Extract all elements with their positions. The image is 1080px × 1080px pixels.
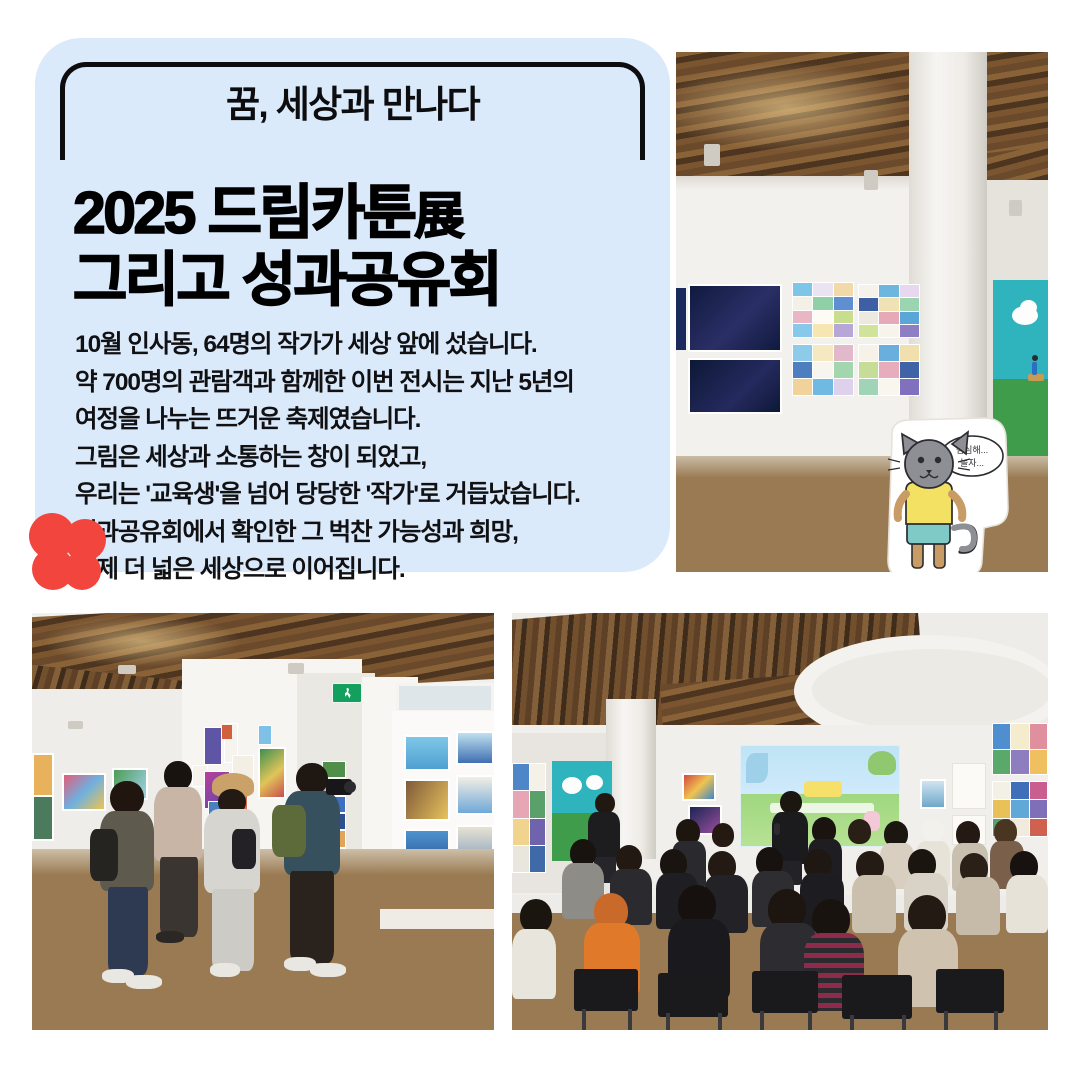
body-line: 여정을 나누는 뜨거운 축제였습니다. bbox=[75, 401, 655, 439]
artwork-panel bbox=[456, 731, 494, 765]
eyebrow-text: 꿈, 세상과 만나다 bbox=[35, 86, 670, 123]
visitor-photographer bbox=[270, 759, 356, 987]
audience-head bbox=[848, 819, 871, 844]
visitor bbox=[194, 773, 274, 983]
artwork-grid bbox=[792, 344, 854, 396]
artwork-panel bbox=[688, 358, 782, 414]
audience-head bbox=[922, 819, 944, 842]
cat-speech-line-2: 놀자... bbox=[960, 458, 984, 468]
gallery-column bbox=[909, 52, 987, 462]
artwork-panel bbox=[682, 773, 716, 801]
artwork-grid bbox=[858, 344, 920, 396]
artwork-panel bbox=[404, 735, 450, 771]
body-copy: 10월 인사동, 64명의 작가가 세상 앞에 섰습니다. 약 700명의 관람… bbox=[75, 326, 655, 589]
audience-head bbox=[520, 899, 552, 933]
artwork-panel bbox=[688, 284, 782, 352]
artwork-grid bbox=[858, 284, 920, 338]
headline-line-1-text: 2025 드림카툰 bbox=[73, 180, 414, 246]
artwork-panel bbox=[204, 727, 222, 765]
photo-seminar bbox=[512, 613, 1048, 1030]
body-line: 성과공유회에서 확인한 그 벅찬 가능성과 희망, bbox=[75, 514, 655, 552]
artwork-grid bbox=[792, 282, 854, 338]
headline-line-1: 2025 드림카툰展 bbox=[73, 180, 633, 247]
body-line: 10월 인사동, 64명의 작가가 세상 앞에 섰습니다. bbox=[75, 326, 655, 364]
artwork-panel bbox=[920, 779, 946, 809]
page-title: 2025 드림카툰展 그리고 성과공유회 bbox=[73, 180, 633, 313]
artwork-panel bbox=[952, 763, 986, 809]
artwork-panel bbox=[676, 288, 686, 350]
audience-head bbox=[712, 823, 734, 847]
photo-gallery-wide: 심심해... 놀자... bbox=[676, 52, 1048, 572]
body-line: 약 700명의 관람객과 함께한 이번 전시는 지난 5년의 bbox=[75, 364, 655, 402]
info-card: 꿈, 세상과 만나다 2025 드림카툰展 그리고 성과공유회 10월 인사동,… bbox=[35, 38, 670, 572]
body-line: 이제 더 넓은 세상으로 이어집니다. bbox=[75, 551, 655, 589]
artwork-grid bbox=[992, 723, 1048, 775]
artwork-grid bbox=[512, 763, 546, 873]
artwork-panel bbox=[32, 795, 54, 841]
headline-line-2: 그리고 성과공유회 bbox=[73, 247, 633, 314]
body-line: 그림은 세상과 소통하는 창이 되었고, bbox=[75, 439, 655, 477]
poster-canvas: 꿈, 세상과 만나다 2025 드림카툰展 그리고 성과공유회 10월 인사동,… bbox=[0, 0, 1080, 1080]
headline-hanja: 展 bbox=[414, 188, 461, 244]
cat-standee-cutout: 심심해... 놀자... bbox=[876, 412, 1014, 572]
artwork-panel bbox=[456, 775, 494, 815]
exit-sign bbox=[332, 683, 362, 703]
artwork-panel bbox=[404, 779, 450, 821]
red-flower-icon bbox=[22, 508, 114, 600]
artwork-panel bbox=[222, 725, 232, 739]
body-line: 우리는 '교육생'을 넘어 당당한 '작가'로 거듭났습니다. bbox=[75, 476, 655, 514]
photo-gallery-visitors bbox=[32, 613, 494, 1030]
artwork-panel bbox=[258, 725, 272, 745]
